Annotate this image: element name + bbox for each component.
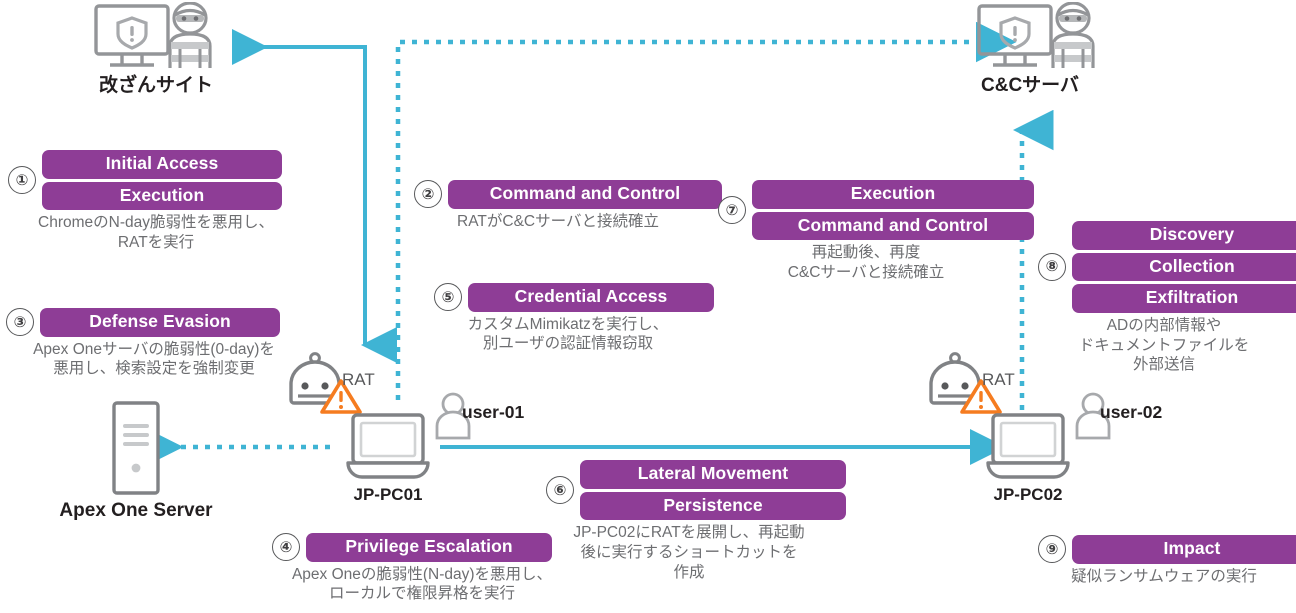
step-description-3: Apex Oneサーバの脆弱性(0-day)を 悪用し、検索設定を強制変更	[6, 340, 302, 380]
step-description-7: 再起動後、再度 C&Cサーバと接続確立	[718, 243, 1014, 283]
server-tower-icon	[108, 400, 164, 501]
tactic-badge-privilege-escalation[interactable]: Privilege Escalation	[306, 533, 552, 562]
step-number-1: ①	[8, 166, 36, 194]
step-description-5: カスタムMimikatzを実行し、 別ユーザの認証情報窃取	[434, 315, 702, 355]
tactic-badge-command-and-control[interactable]: Command and Control	[448, 180, 722, 209]
tactic-badge-command-and-control-7[interactable]: Command and Control	[752, 212, 1034, 241]
tactic-badge-initial-access[interactable]: Initial Access	[42, 150, 282, 179]
step-5[interactable]: ⑤ Credential Access カスタムMimikatzを実行し、 別ユ…	[434, 283, 734, 354]
tactic-badge-impact[interactable]: Impact	[1072, 535, 1296, 564]
step-number-9: ⑨	[1038, 535, 1066, 563]
step-3[interactable]: ③ Defense Evasion Apex Oneサーバの脆弱性(0-day)…	[6, 308, 306, 379]
attack-flow-diagram: 改ざんサイト C&Cサーバ	[0, 0, 1296, 613]
step-6[interactable]: ⑥ Lateral Movement Persistence JP-PC02にR…	[546, 460, 846, 583]
step-7[interactable]: ⑦ Execution Command and Control 再起動後、再度 …	[718, 180, 1028, 283]
tactic-badge-defense-evasion[interactable]: Defense Evasion	[40, 308, 280, 337]
step-4[interactable]: ④ Privilege Escalation Apex Oneの脆弱性(N-da…	[272, 533, 582, 604]
tactic-badge-collection[interactable]: Collection	[1072, 253, 1296, 282]
rat-label-right: RAT	[982, 370, 1015, 390]
tactic-badge-execution-7[interactable]: Execution	[752, 180, 1034, 209]
step-description-2: RATがC&Cサーバと接続確立	[414, 212, 702, 232]
node-label-cc-server: C&Cサーバ	[960, 70, 1100, 97]
hacker-monitor-icon-defaced-site	[92, 2, 220, 79]
rat-label-left: RAT	[342, 370, 375, 390]
hacker-monitor-icon-cc-server	[975, 2, 1103, 79]
node-label-jp-pc02: JP-PC02	[970, 485, 1086, 505]
step-number-3: ③	[6, 308, 34, 336]
node-label-defaced-site: 改ざんサイト	[88, 70, 224, 97]
tactic-badge-execution[interactable]: Execution	[42, 182, 282, 211]
step-number-8: ⑧	[1038, 253, 1066, 281]
step-description-6: JP-PC02にRATを展開し、再起動 後に実行するショートカットを 作成	[546, 523, 832, 582]
step-description-4: Apex Oneの脆弱性(N-day)を悪用し、 ローカルで権限昇格を実行	[272, 565, 572, 605]
step-description-1: ChromeのN-day脆弱性を悪用し、 RATを実行	[8, 213, 304, 253]
step-number-4: ④	[272, 533, 300, 561]
tactic-badge-credential-access[interactable]: Credential Access	[468, 283, 714, 312]
step-2[interactable]: ② Command and Control RATがC&Cサーバと接続確立	[414, 180, 714, 231]
step-description-8: ADの内部情報や ドキュメントファイルを 外部送信	[1038, 316, 1290, 375]
node-label-jp-pc01: JP-PC01	[330, 485, 446, 505]
tactic-badge-lateral-movement[interactable]: Lateral Movement	[580, 460, 846, 489]
step-9[interactable]: ⑨ Impact 疑似ランサムウェアの実行	[1038, 535, 1294, 586]
user-label-02: user-02	[1100, 402, 1162, 423]
tactic-badge-persistence[interactable]: Persistence	[580, 492, 846, 521]
laptop-icon-jp-pc01	[336, 412, 440, 487]
step-number-5: ⑤	[434, 283, 462, 311]
step-8[interactable]: ⑧ Discovery Collection Exfiltration ADの内…	[1038, 221, 1294, 375]
tactic-badge-exfiltration[interactable]: Exfiltration	[1072, 284, 1296, 313]
user-label-01: user-01	[462, 402, 524, 423]
step-number-6: ⑥	[546, 476, 574, 504]
tactic-badge-discovery[interactable]: Discovery	[1072, 221, 1296, 250]
step-description-9: 疑似ランサムウェアの実行	[1038, 567, 1290, 587]
laptop-icon-jp-pc02	[976, 412, 1080, 487]
step-number-2: ②	[414, 180, 442, 208]
node-label-apex-one-server: Apex One Server	[52, 500, 220, 522]
step-1[interactable]: ① Initial Access Execution ChromeのN-day脆…	[8, 150, 308, 253]
step-number-7: ⑦	[718, 196, 746, 224]
